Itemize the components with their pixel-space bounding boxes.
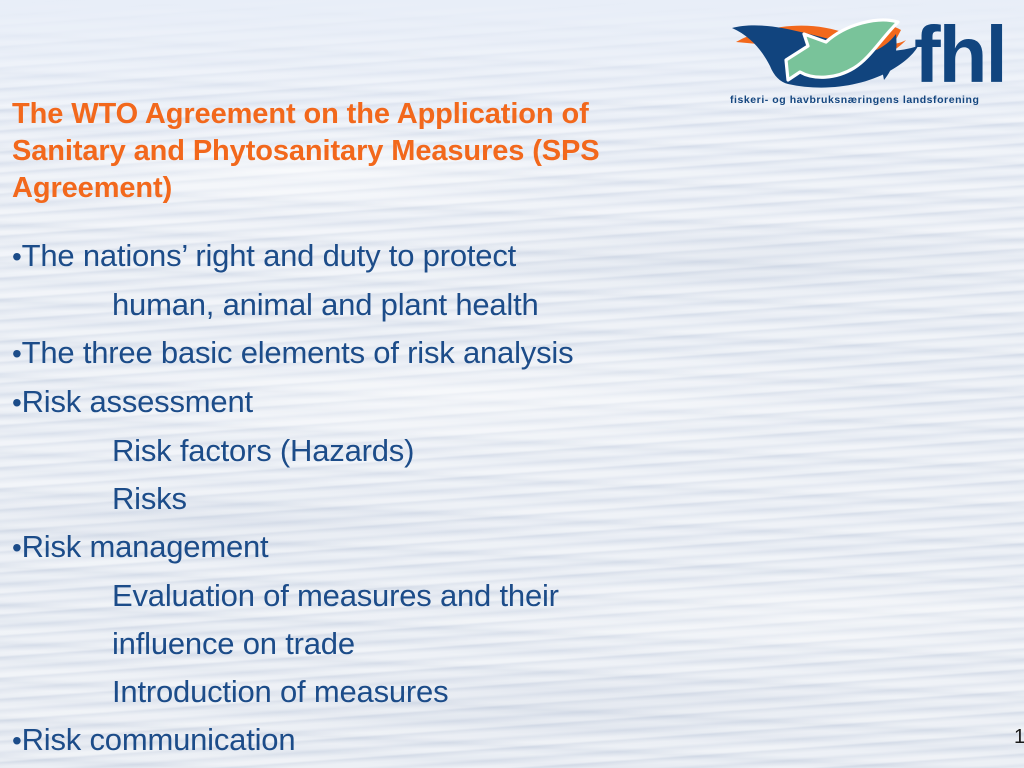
fhl-logo: fhl fiskeri- og havbruksnæringens landsf… <box>728 6 1024 114</box>
bullet-text: Risks <box>112 481 187 516</box>
slide-title-line-1: The WTO Agreement on the Application of <box>12 96 772 133</box>
bullet-text: The three basic elements of risk analysi… <box>22 335 574 370</box>
bullet-text: Risk management <box>22 529 269 564</box>
bullet-text: human, animal and plant health <box>112 287 539 322</box>
bullet-glyph: • <box>12 532 22 563</box>
bullet-line: •Risk management <box>12 523 912 572</box>
slide-number: 1 <box>1014 726 1024 768</box>
bullet-text: Risk assessment <box>22 384 253 419</box>
bullet-line: Evaluation of measures and their <box>12 572 912 620</box>
bullet-line: •Risk communication <box>12 716 912 765</box>
bullet-text: influence on trade <box>112 626 355 661</box>
bullet-text: Introduction of measures <box>112 674 448 709</box>
fhl-logo-mark: fhl <box>728 6 1024 92</box>
bullet-line: influence on trade <box>12 620 912 668</box>
bullet-text: Risk communication <box>22 722 296 757</box>
slide-body: •The nations’ right and duty to protecth… <box>12 232 912 765</box>
bullet-line: •Risk assessment <box>12 378 912 427</box>
bullet-glyph: • <box>12 241 22 272</box>
bullet-text: Risk factors (Hazards) <box>112 433 414 468</box>
bullet-glyph: • <box>12 387 22 418</box>
slide-canvas: fhl fiskeri- og havbruksnæringens landsf… <box>0 0 1024 768</box>
logo-tagline: fiskeri- og havbruksnæringens landsforen… <box>730 94 1024 106</box>
bullet-glyph: • <box>12 725 22 756</box>
bullet-line: •The nations’ right and duty to protect <box>12 232 912 281</box>
bullet-text: Evaluation of measures and their <box>112 578 559 613</box>
slide-title-line-3: Agreement) <box>12 170 772 207</box>
logo-wordmark: fhl <box>914 10 1006 92</box>
bullet-glyph: • <box>12 338 22 369</box>
bullet-line: Introduction of measures <box>12 668 912 716</box>
slide-title-line-2: Sanitary and Phytosanitary Measures (SPS <box>12 133 772 170</box>
bullet-line: Risks <box>12 475 912 523</box>
bullet-line: •The three basic elements of risk analys… <box>12 329 912 378</box>
bullet-text: The nations’ right and duty to protect <box>22 238 516 273</box>
bullet-line: human, animal and plant health <box>12 281 912 329</box>
slide-title: The WTO Agreement on the Application of … <box>12 96 772 207</box>
bullet-line: Risk factors (Hazards) <box>12 427 912 475</box>
